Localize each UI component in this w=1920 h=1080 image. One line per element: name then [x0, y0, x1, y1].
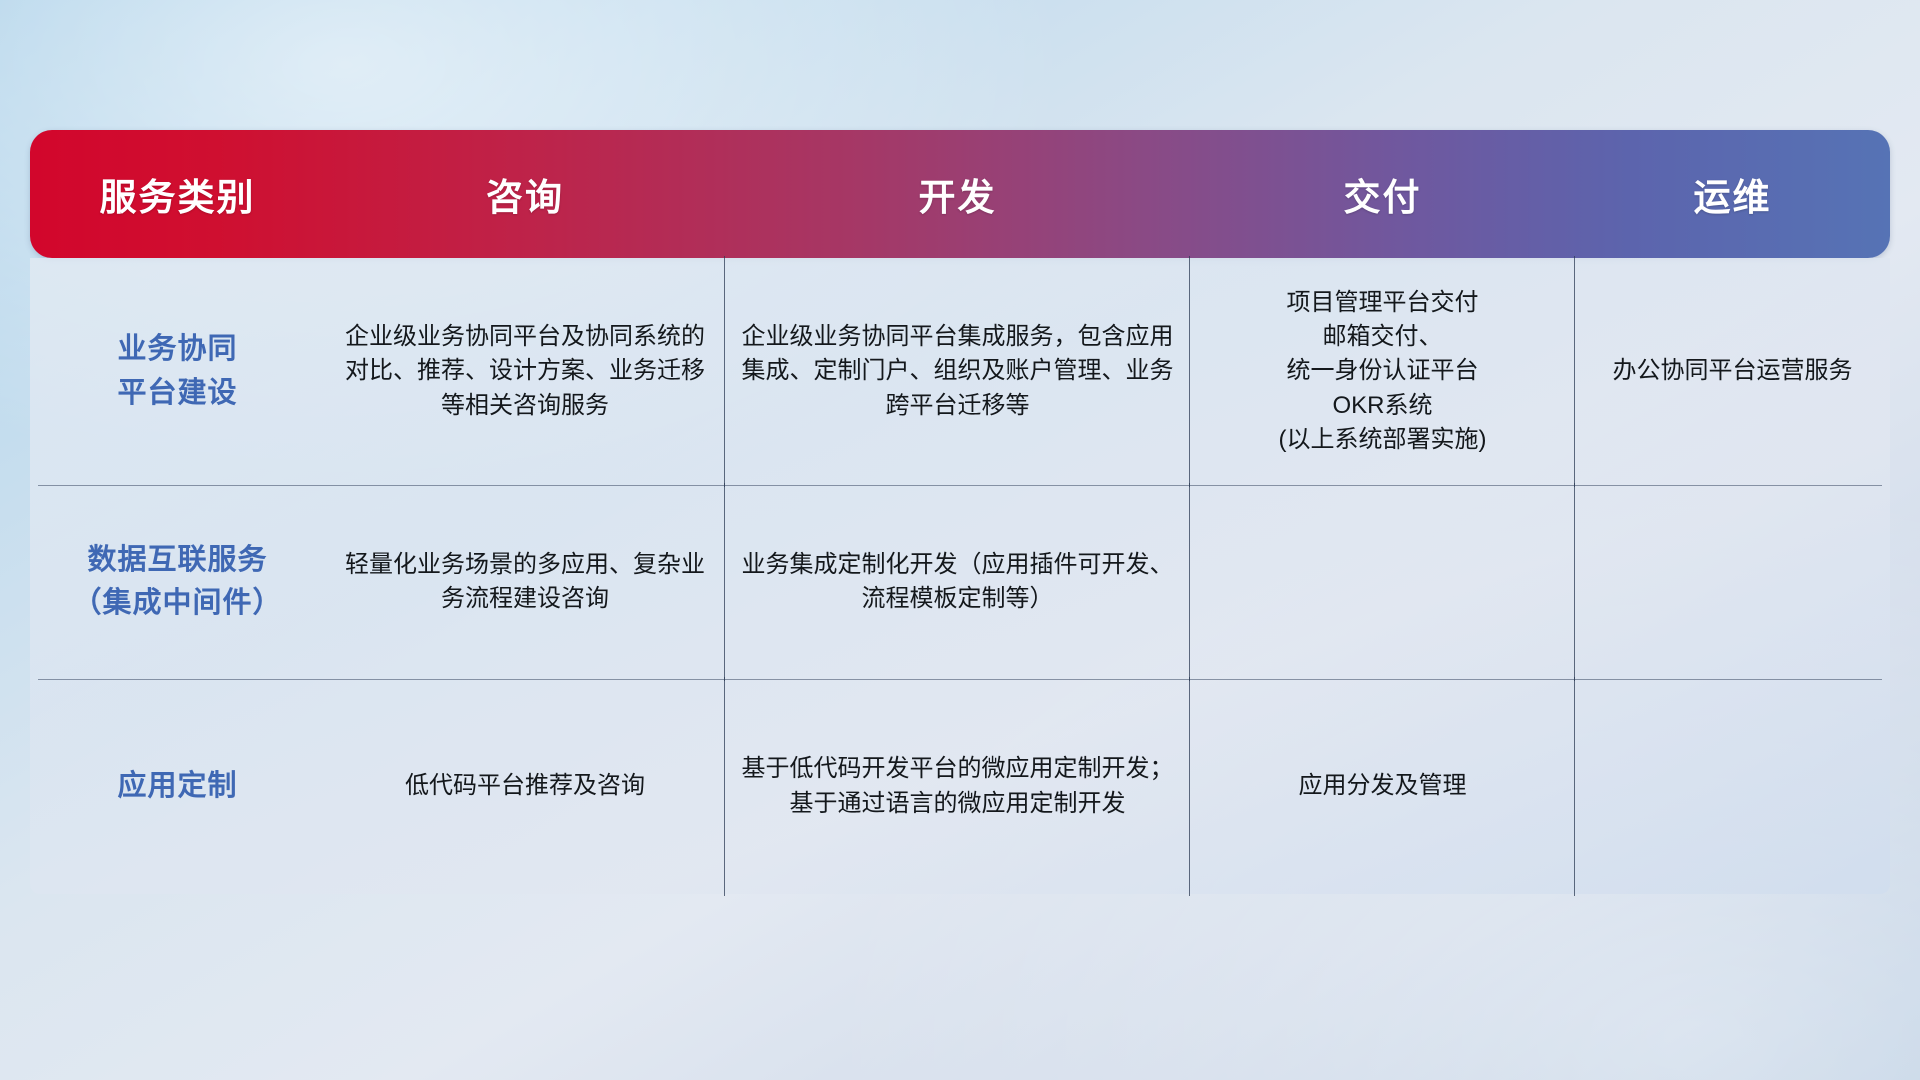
slide-canvas: 服务类别 咨询 开发 交付 运维 业务协同 平台建设 — [0, 0, 1920, 1080]
cell-delivery: 应用分发及管理 — [1190, 679, 1575, 894]
cell-development: 业务集成定制化开发（应用插件可开发、流程模板定制等） — [725, 485, 1190, 679]
row-category-line: 应用定制 — [117, 765, 237, 809]
cell-delivery-text: 应用分发及管理 — [1299, 769, 1467, 803]
cell-delivery: 项目管理平台交付 邮箱交付、 统一身份认证平台 OKR系统 (以上系统部署实施) — [1190, 258, 1575, 485]
row-category-line: 数据互联服务 — [72, 539, 282, 583]
cell-development-line: 基于通过语言的微应用定制开发 — [742, 787, 1174, 821]
row-category-line: 业务协同 — [117, 328, 237, 372]
cell-development-line: 基于低代码开发平台的微应用定制开发； — [742, 752, 1174, 786]
cell-consulting-text: 企业级业务协同平台及协同系统的对比、推荐、设计方案、业务迁移等相关咨询服务 — [341, 320, 709, 422]
row-category-label: 数据互联服务 （集成中间件） — [30, 485, 325, 679]
service-matrix-table: 服务类别 咨询 开发 交付 运维 业务协同 平台建设 — [30, 130, 1890, 894]
row-category-line: 平台建设 — [117, 372, 237, 416]
cell-delivery-line: (以上系统部署实施) — [1279, 423, 1487, 457]
cell-consulting: 低代码平台推荐及咨询 — [325, 679, 725, 894]
header-delivery: 交付 — [1190, 130, 1575, 258]
cell-delivery — [1190, 485, 1575, 679]
cell-operations-text: 办公协同平台运营服务 — [1613, 354, 1853, 388]
header-development-label: 开发 — [919, 167, 997, 221]
cell-operations — [1575, 485, 1890, 679]
header-operations: 运维 — [1575, 130, 1890, 258]
cell-operations: 办公协同平台运营服务 — [1575, 258, 1890, 485]
cell-consulting-text: 轻量化业务场景的多应用、复杂业务流程建设咨询 — [341, 548, 709, 616]
header-consulting-label: 咨询 — [486, 167, 564, 221]
cell-consulting-text: 低代码平台推荐及咨询 — [405, 769, 645, 803]
header-service-category: 服务类别 — [30, 130, 325, 258]
header-consulting: 咨询 — [325, 130, 725, 258]
cell-delivery-line: 邮箱交付、 — [1279, 320, 1487, 354]
cell-delivery-line: OKR系统 — [1279, 389, 1487, 423]
cell-delivery-line: 统一身份认证平台 — [1279, 354, 1487, 388]
row-category-label: 应用定制 — [30, 679, 325, 894]
cell-development: 企业级业务协同平台集成服务，包含应用集成、定制门户、组织及账户管理、业务跨平台迁… — [725, 258, 1190, 485]
header-operations-label: 运维 — [1694, 167, 1772, 221]
cell-consulting: 企业级业务协同平台及协同系统的对比、推荐、设计方案、业务迁移等相关咨询服务 — [325, 258, 725, 485]
row-category-label: 业务协同 平台建设 — [30, 258, 325, 485]
table-row: 应用定制 低代码平台推荐及咨询 基于低代码开发平台的微应用定制开发； 基于通过语… — [30, 679, 1890, 894]
table-body: 业务协同 平台建设 企业级业务协同平台及协同系统的对比、推荐、设计方案、业务迁移… — [30, 258, 1890, 894]
table-header-row: 服务类别 咨询 开发 交付 运维 — [30, 130, 1890, 258]
header-development: 开发 — [725, 130, 1190, 258]
cell-delivery-line: 项目管理平台交付 — [1279, 286, 1487, 320]
cell-development-text: 企业级业务协同平台集成服务，包含应用集成、定制门户、组织及账户管理、业务跨平台迁… — [741, 320, 1174, 422]
header-delivery-label: 交付 — [1344, 167, 1422, 221]
table-row: 业务协同 平台建设 企业级业务协同平台及协同系统的对比、推荐、设计方案、业务迁移… — [30, 258, 1890, 485]
cell-consulting: 轻量化业务场景的多应用、复杂业务流程建设咨询 — [325, 485, 725, 679]
table-row: 数据互联服务 （集成中间件） 轻量化业务场景的多应用、复杂业务流程建设咨询 业务… — [30, 485, 1890, 679]
cell-operations — [1575, 679, 1890, 894]
cell-development-text: 业务集成定制化开发（应用插件可开发、流程模板定制等） — [741, 548, 1174, 616]
row-category-line: （集成中间件） — [72, 582, 282, 626]
header-service-category-label: 服务类别 — [100, 167, 256, 221]
cell-development: 基于低代码开发平台的微应用定制开发； 基于通过语言的微应用定制开发 — [725, 679, 1190, 894]
